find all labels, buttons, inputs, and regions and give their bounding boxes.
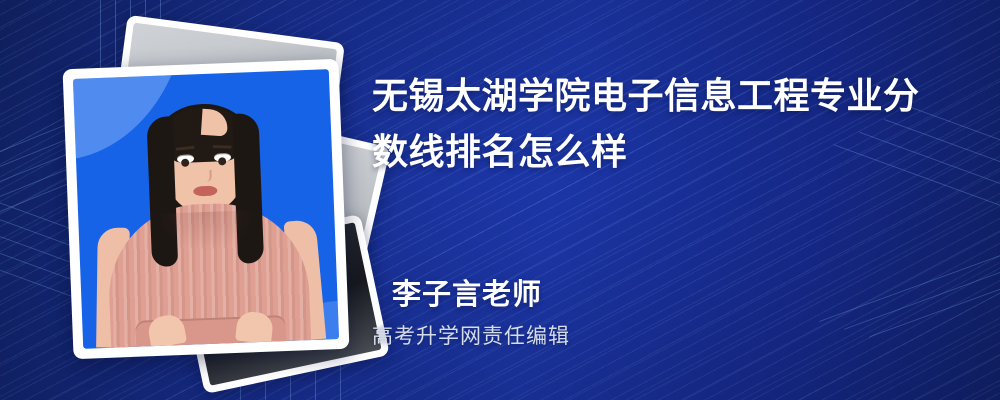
banner-title-line-1: 无锡太湖学院电子信息工程专业分	[372, 68, 952, 124]
author-role: 高考升学网责任编辑	[372, 320, 570, 350]
portrait-eyebrow-right	[213, 145, 232, 149]
portrait-photo-card	[63, 59, 350, 359]
portrait-chest-shadow	[158, 210, 255, 254]
portrait-photo	[73, 69, 339, 349]
author-name: 李子言老师	[392, 271, 542, 313]
banner-title: 无锡太湖学院电子信息工程专业分 数线排名怎么样	[372, 68, 952, 180]
portrait-subject	[73, 69, 339, 349]
portrait-pupil-right	[218, 157, 226, 165]
article-header-banner: 无锡太湖学院电子信息工程专业分 数线排名怎么样 李子言老师 高考升学网责任编辑	[0, 0, 1000, 400]
photo-card-stack	[58, 22, 358, 362]
portrait-pupil-left	[181, 158, 189, 166]
banner-title-line-2: 数线排名怎么样	[372, 124, 952, 180]
banner-text-column: 无锡太湖学院电子信息工程专业分 数线排名怎么样 李子言老师 高考升学网责任编辑	[372, 0, 972, 400]
